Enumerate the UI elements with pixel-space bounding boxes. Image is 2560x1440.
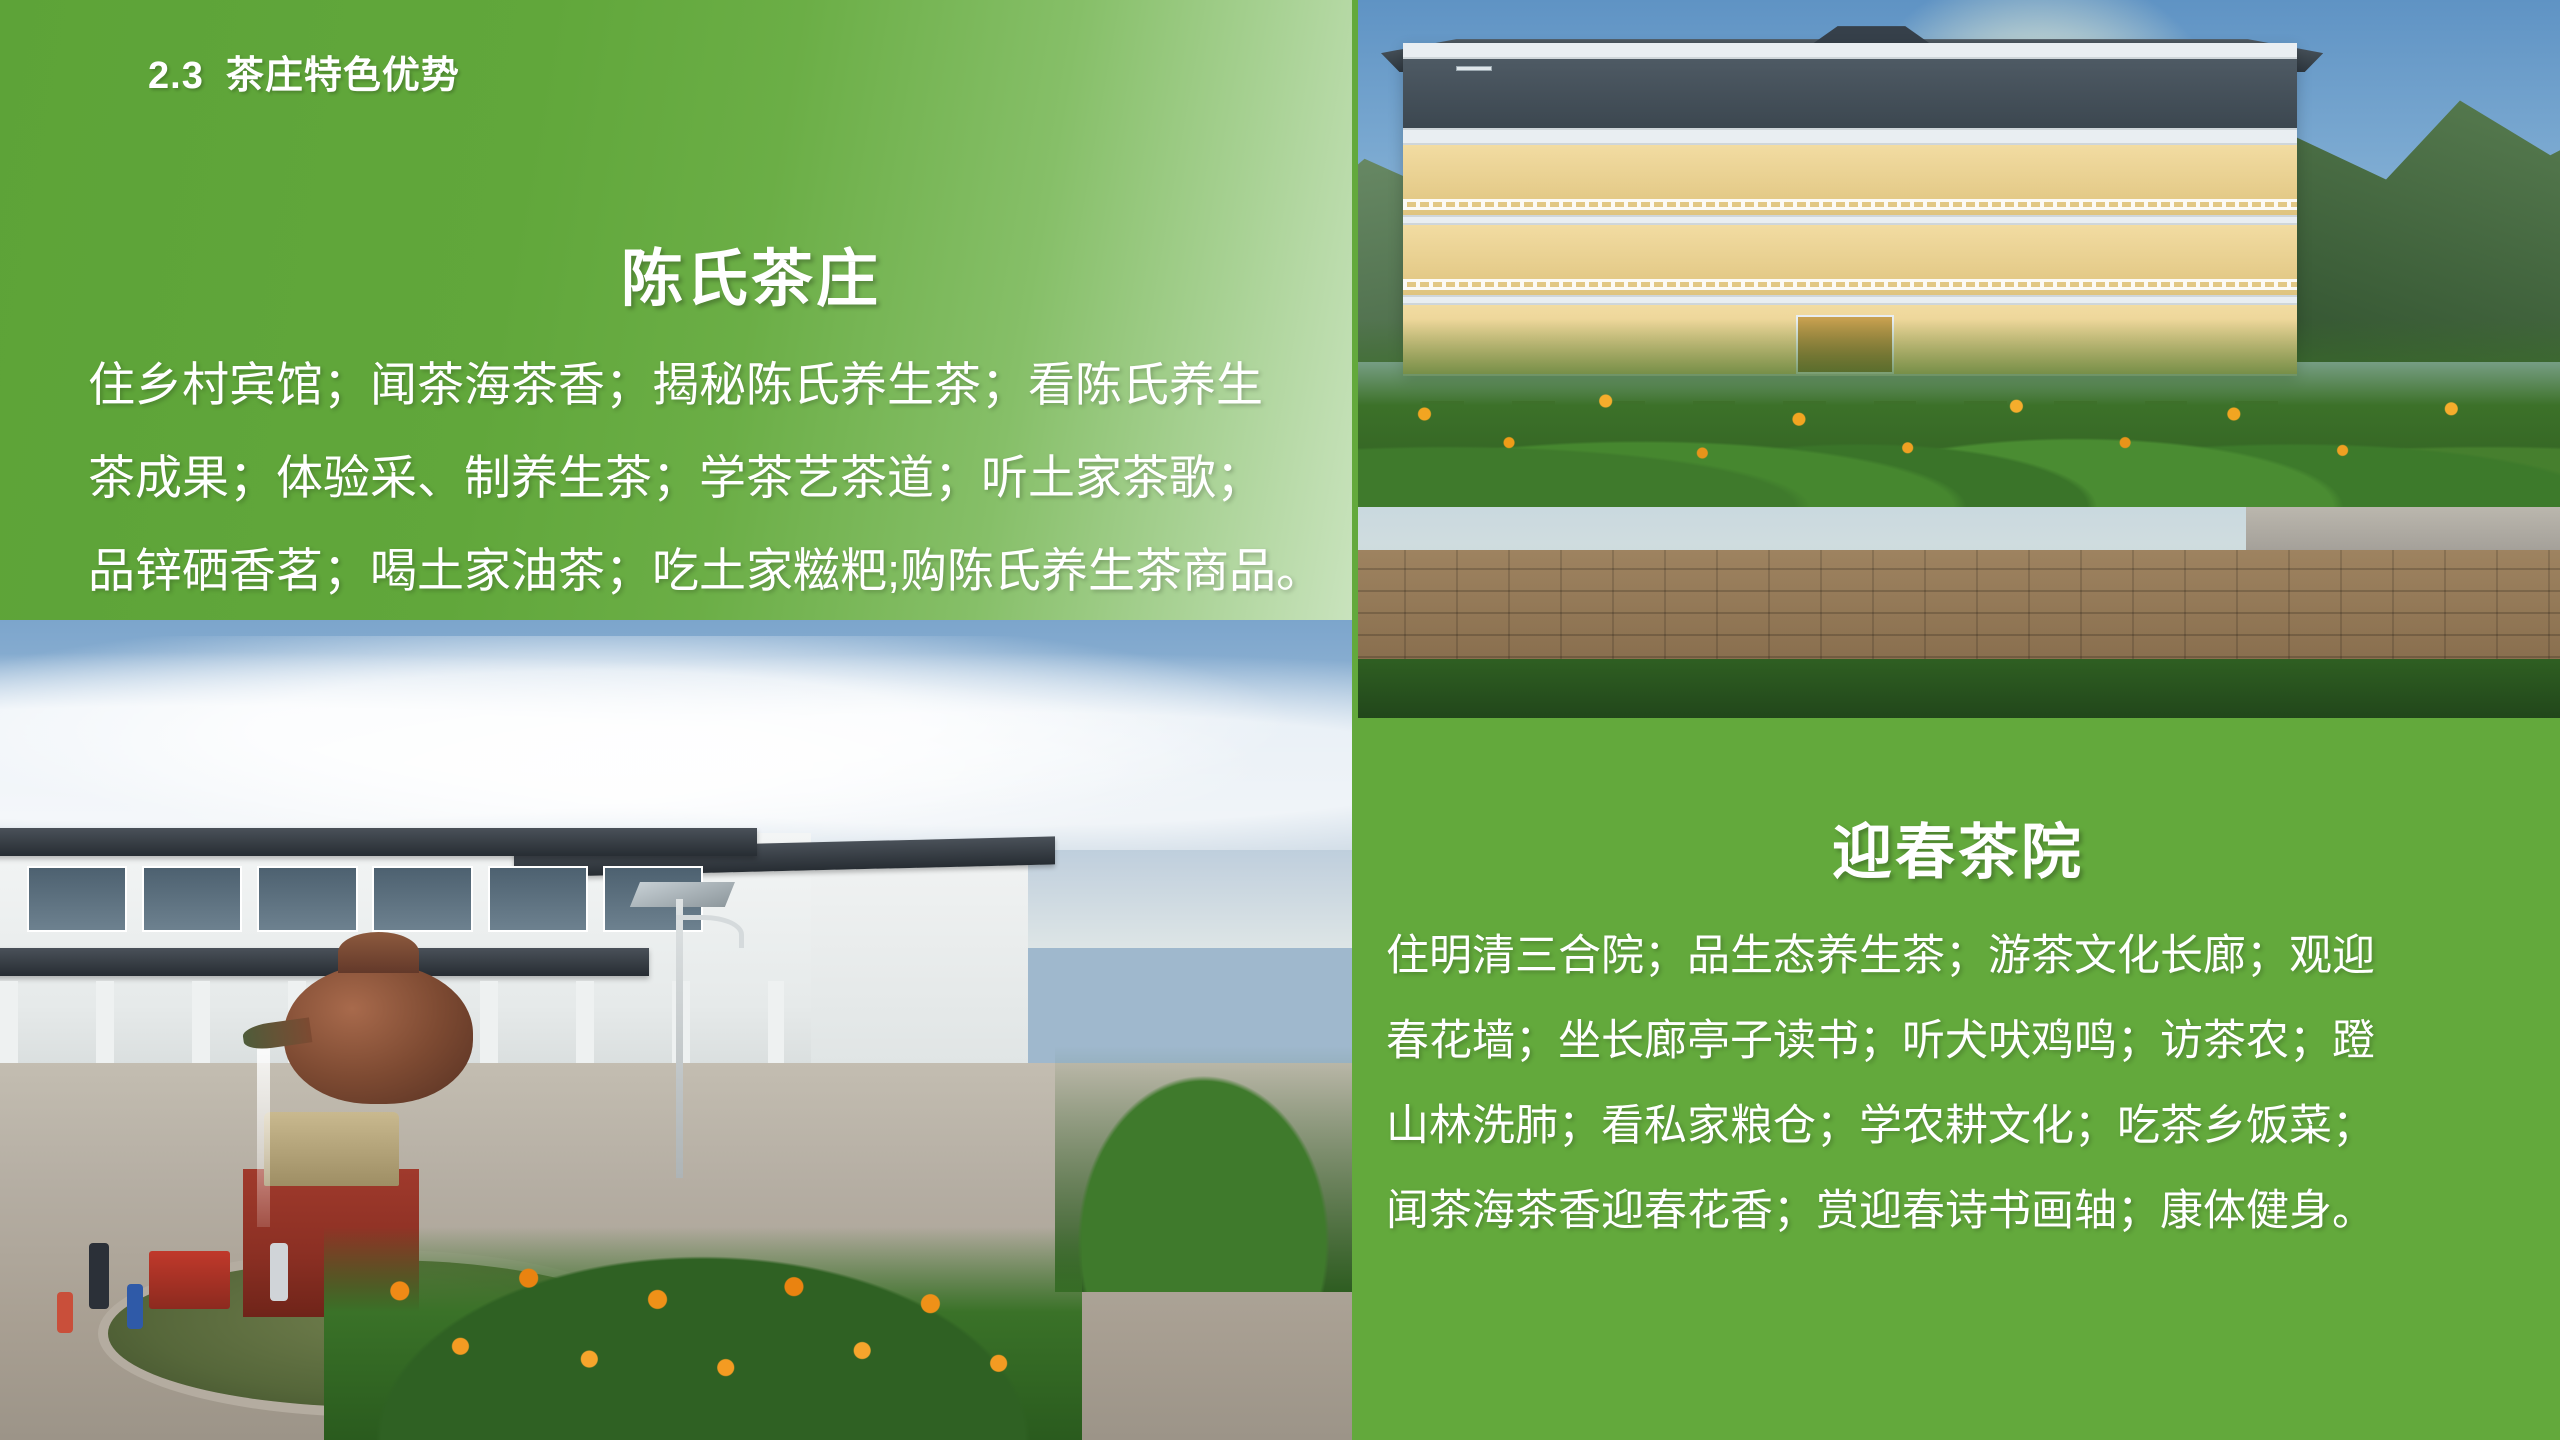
balcony-railing [1403, 199, 2297, 210]
tiled-eave [0, 828, 757, 856]
window [488, 866, 588, 932]
photo-hotel-building [1352, 0, 2560, 724]
building-floor-2 [1403, 223, 2297, 296]
photo-separator-horizontal [1352, 718, 2560, 726]
body-line: 住乡村宾馆；闻茶海茶香；揭秘陈氏养生茶；看陈氏养生 [88, 338, 1338, 431]
window [372, 866, 472, 932]
left-panel-body: 住乡村宾馆；闻茶海茶香；揭秘陈氏养生茶；看陈氏养生 茶成果；体验采、制养生茶；学… [88, 338, 1338, 617]
orange-flowers [1352, 362, 2560, 492]
marigold-flowerbed [324, 1227, 1081, 1440]
water-stream [257, 1046, 271, 1226]
solar-panel [630, 882, 735, 907]
left-panel-title: 陈氏茶庄 [0, 228, 1352, 318]
tiled-eave [0, 948, 649, 976]
teapot-lid [338, 932, 419, 973]
section-title: 茶庄特色优势 [226, 55, 460, 97]
window-row [27, 866, 703, 932]
photo-courtyard [0, 620, 1352, 1440]
bush-right [1055, 1046, 1352, 1292]
body-line: 闻茶海茶香迎春花香；赏迎春诗书画轴；康体健身。 [1386, 1169, 2546, 1254]
clouds [0, 636, 1352, 849]
person [270, 1243, 288, 1300]
window [257, 866, 357, 932]
person [89, 1243, 109, 1309]
window [142, 866, 242, 932]
body-line: 住明清三合院；品生态养生茶；游茶文化长廊；观迎 [1386, 914, 2546, 999]
right-panel-title: 迎春茶院 [1356, 804, 2560, 891]
person [127, 1284, 143, 1329]
body-line: 春花墙；坐长廊亭子读书；听犬吠鸡鸣；访茶农；蹬 [1386, 999, 2546, 1084]
window-row-top [1421, 59, 2279, 128]
body-line: 山林洗肺；看私家粮仓；学农耕文化；吃茶乡饭菜； [1386, 1084, 2546, 1169]
right-text-panel: 迎春茶院 住明清三合院；品生态养生茶；游茶文化长廊；观迎 春花墙；坐长廊亭子读书… [1356, 724, 2560, 1440]
air-conditioner-unit [1456, 66, 1492, 71]
window [27, 866, 127, 932]
building-floor-top [1403, 57, 2297, 130]
giant-teapot-sculpture [284, 964, 473, 1103]
building-floor-1 [1403, 143, 2297, 216]
slide-root: 2.3茶庄特色优势 陈氏茶庄 住乡村宾馆；闻茶海茶香；揭秘陈氏养生茶；看陈氏养生… [0, 0, 2560, 1440]
section-heading: 2.3茶庄特色优势 [148, 44, 460, 99]
tea-hedge-foreground [1352, 659, 2560, 724]
body-line: 品锌硒香茗；喝土家油茶；吃土家糍粑;购陈氏养生茶商品。 [88, 524, 1338, 617]
photo-separator-vertical [1352, 0, 1358, 724]
left-text-panel: 2.3茶庄特色优势 陈氏茶庄 住乡村宾馆；闻茶海茶香；揭秘陈氏养生茶；看陈氏养生… [0, 0, 1352, 620]
person [57, 1292, 73, 1333]
section-number: 2.3 [148, 55, 204, 97]
right-panel-body: 住明清三合院；品生态养生茶；游茶文化长廊；观迎 春花墙；坐长廊亭子读书；听犬吠鸡… [1386, 914, 2546, 1254]
body-line: 茶成果；体验采、制养生茶；学茶艺茶道；听土家茶歌； [88, 431, 1338, 524]
red-utility-vehicle [149, 1251, 230, 1308]
stone-censer-base [264, 1112, 399, 1186]
balcony-railing [1403, 279, 2297, 290]
